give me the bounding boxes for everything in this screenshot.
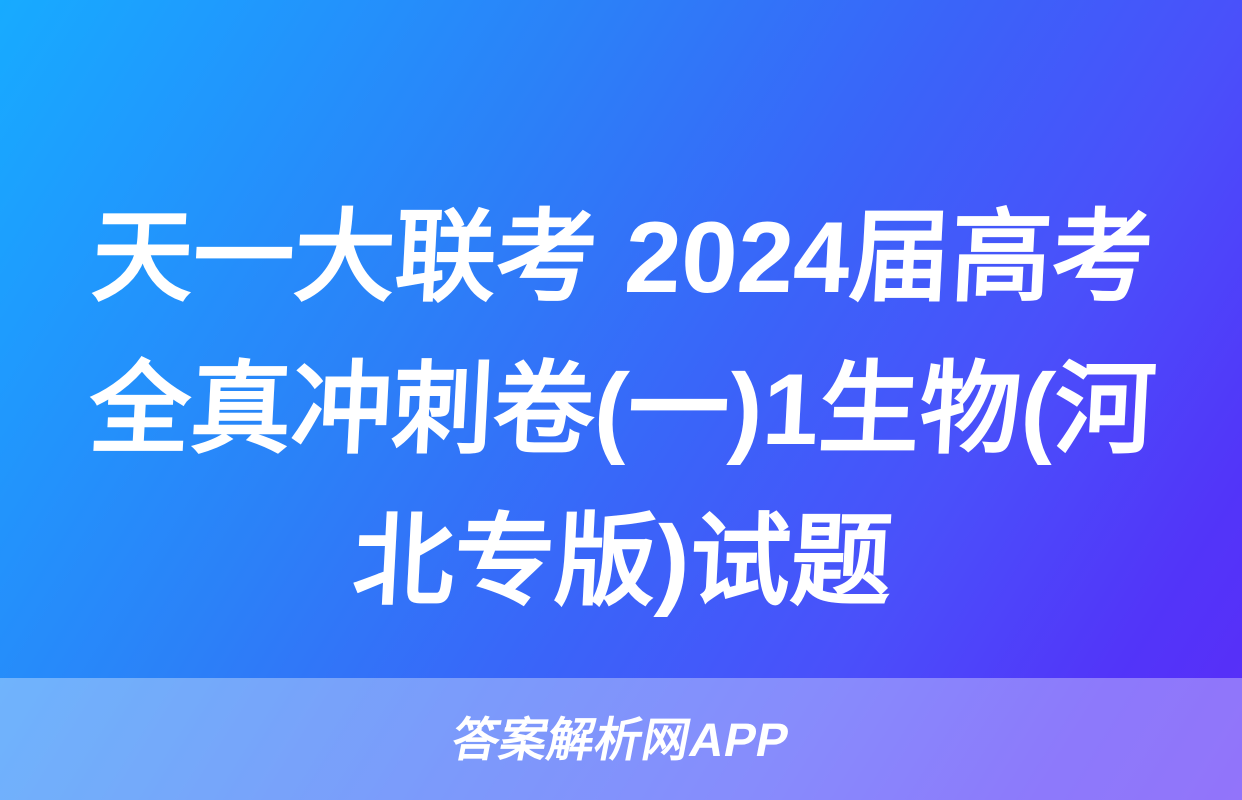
title-line-3: 北专版)试题 (79, 486, 1166, 638)
footer-watermark-band: 答案解析网APP (0, 678, 1242, 800)
page-title: 天一大联考 2024届高考 全真冲刺卷(一)1生物(河 北专版)试题 (83, 182, 1162, 638)
title-line-1: 天一大联考 2024届高考 (79, 182, 1166, 334)
poster-canvas: 天一大联考 2024届高考 全真冲刺卷(一)1生物(河 北专版)试题 答案解析网… (0, 0, 1242, 800)
watermark-label: 答案解析网APP (449, 716, 794, 763)
title-line-2: 全真冲刺卷(一)1生物(河 (79, 334, 1166, 486)
